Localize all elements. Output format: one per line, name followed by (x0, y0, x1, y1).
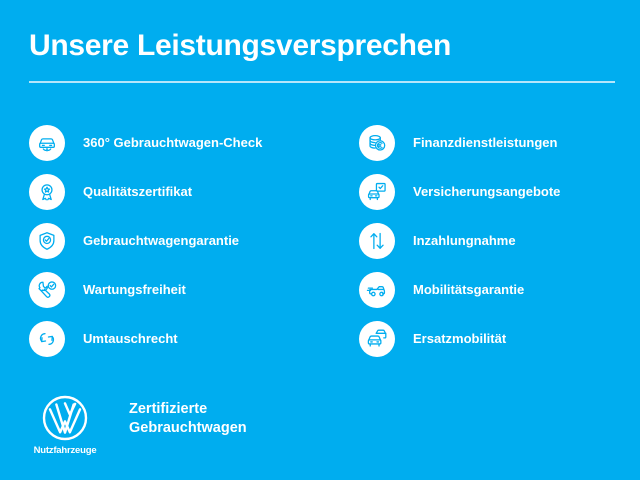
car-inspection-icon (29, 125, 65, 161)
brand-subline: Nutzfahrzeuge (34, 445, 97, 456)
list-item[interactable]: Finanzdienstleistungen (359, 118, 640, 167)
list-item[interactable]: Qualitätszertifikat (29, 167, 330, 216)
exchange-arrows-icon (29, 321, 65, 357)
promise-slide: Unsere Leistungsversprechen (0, 0, 640, 480)
shield-check-icon (29, 223, 65, 259)
footer-claim-line2: Gebrauchtwagen (129, 419, 247, 438)
van-motion-icon (359, 272, 395, 308)
brand-lockup: Nutzfahrzeuge (29, 394, 101, 456)
two-cars-icon (359, 321, 395, 357)
list-item-label: Umtauschrecht (83, 331, 178, 347)
list-item-label: Qualitätszertifikat (83, 184, 192, 200)
list-item[interactable]: Inzahlungnahme (359, 216, 640, 265)
footer-claim: Zertifizierte Gebrauchtwagen (129, 400, 247, 438)
list-item-label: Finanzdienstleistungen (413, 135, 557, 151)
slide-header: Unsere Leistungsversprechen (29, 29, 615, 83)
list-item[interactable]: Umtauschrecht (29, 314, 330, 363)
footer-claim-line1: Zertifizierte (129, 400, 247, 419)
list-item[interactable]: 360° Gebrauchtwagen-Check (29, 118, 330, 167)
slide-footer: Nutzfahrzeuge Zertifizierte Gebrauchtwag… (29, 394, 247, 456)
vw-logo-icon (41, 394, 89, 442)
coins-euro-icon (359, 125, 395, 161)
list-item-label: Ersatzmobilität (413, 331, 506, 347)
page-title: Unsere Leistungsversprechen (29, 29, 615, 63)
promise-column-right: Finanzdienstleistungen Versicheru (330, 118, 640, 363)
car-document-icon (359, 174, 395, 210)
list-item-label: Mobilitätsgarantie (413, 282, 524, 298)
list-item-label: Wartungsfreiheit (83, 282, 186, 298)
list-item[interactable]: Versicherungsangebote (359, 167, 640, 216)
list-item-label: Inzahlungnahme (413, 233, 516, 249)
list-item[interactable]: Ersatzmobilität (359, 314, 640, 363)
list-item-label: Gebrauchtwagengarantie (83, 233, 239, 249)
wrench-check-icon (29, 272, 65, 308)
list-item-label: Versicherungsangebote (413, 184, 560, 200)
list-item-label: 360° Gebrauchtwagen-Check (83, 135, 262, 151)
promise-grid: 360° Gebrauchtwagen-Check Qualitätszerti… (0, 118, 640, 363)
up-down-arrows-icon (359, 223, 395, 259)
list-item[interactable]: Wartungsfreiheit (29, 265, 330, 314)
list-item[interactable]: Gebrauchtwagengarantie (29, 216, 330, 265)
award-rosette-icon (29, 174, 65, 210)
promise-column-left: 360° Gebrauchtwagen-Check Qualitätszerti… (0, 118, 330, 363)
header-divider (29, 81, 615, 83)
list-item[interactable]: Mobilitätsgarantie (359, 265, 640, 314)
